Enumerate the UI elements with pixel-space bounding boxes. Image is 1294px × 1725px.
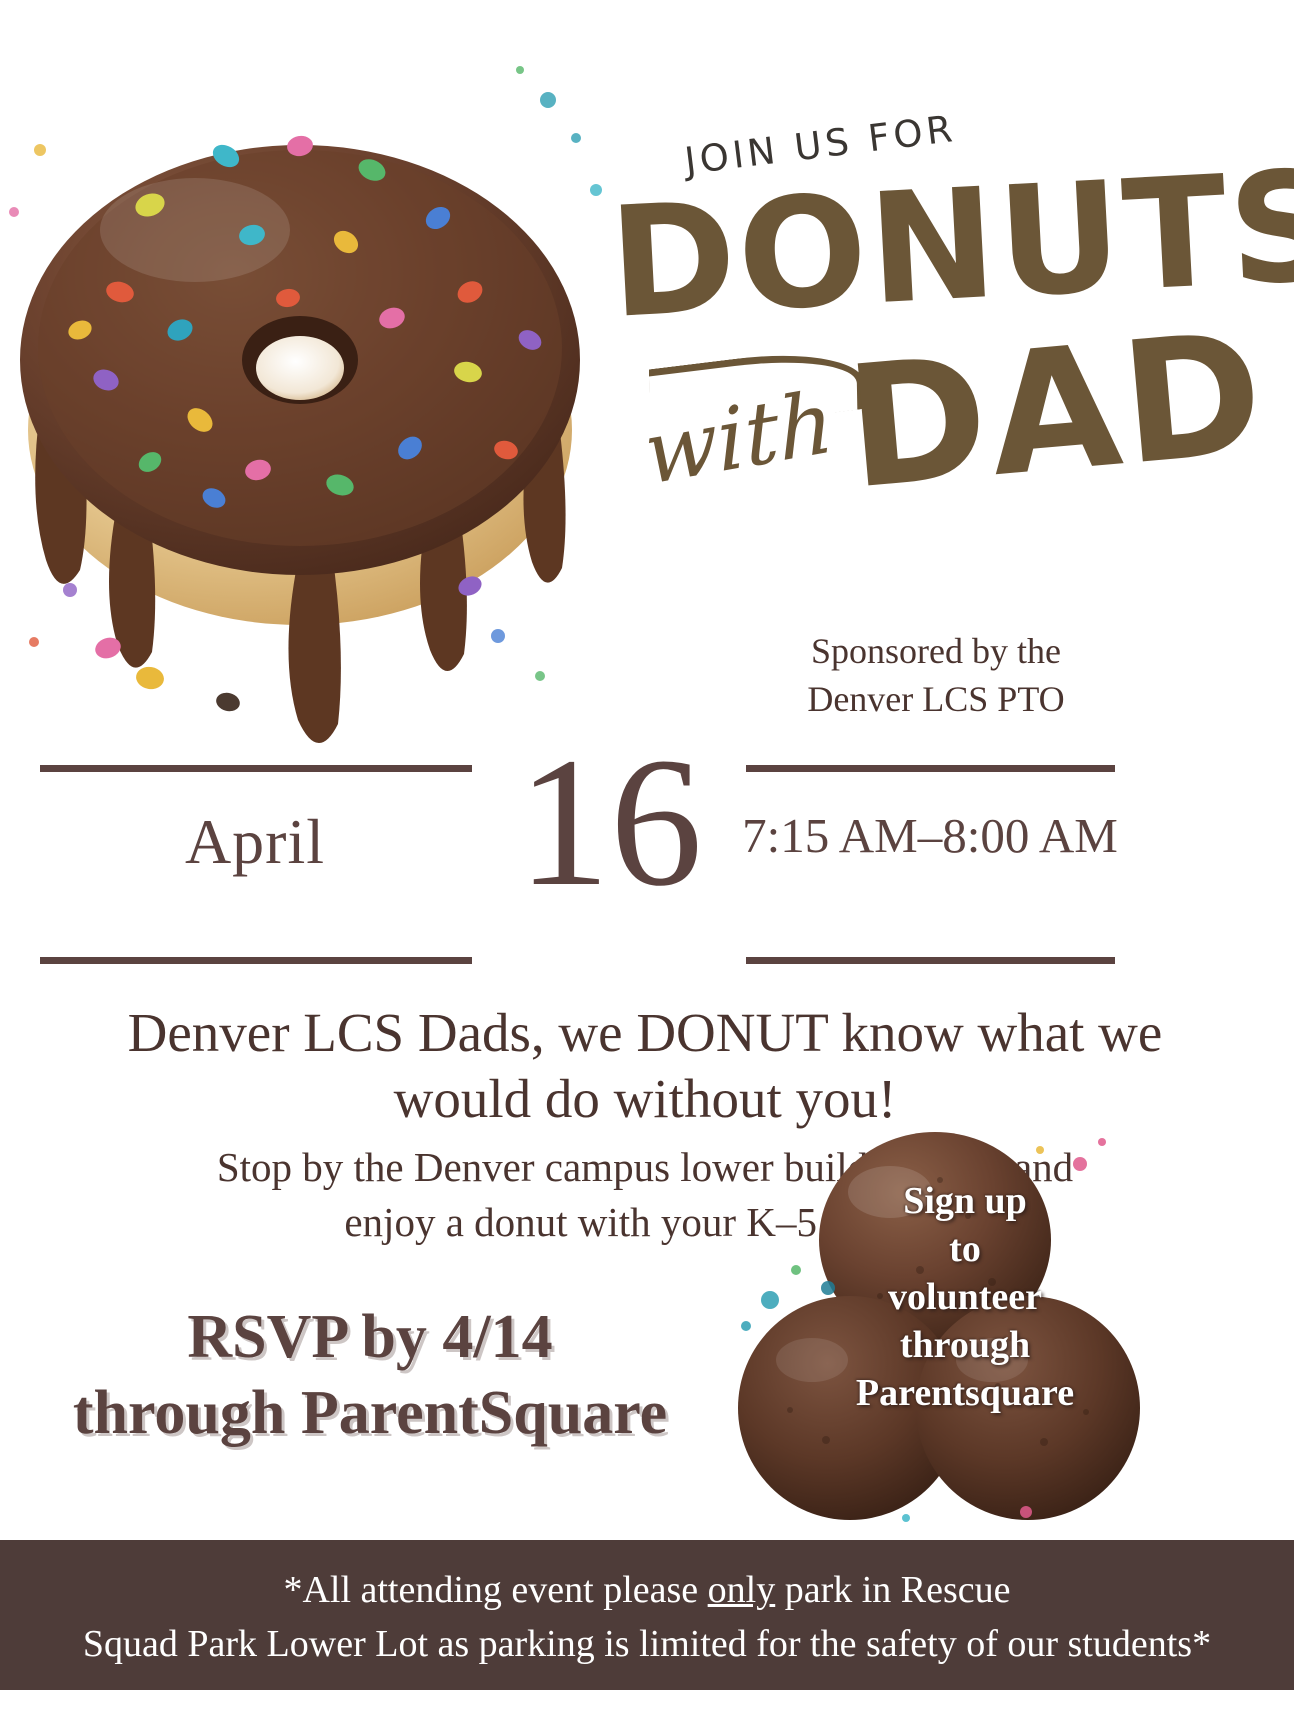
signup-line-1: Sign up — [840, 1178, 1090, 1226]
rsvp-block: RSVP by 4/14 through ParentSquare — [30, 1300, 710, 1451]
tagline-block: Denver LCS Dads, we DONUT know what we w… — [70, 1000, 1220, 1132]
banner-line-1-post: park in Rescue — [775, 1569, 1010, 1611]
sponsor-block: Sponsored by the Denver LCS PTO — [726, 628, 1146, 723]
event-time-range: 7:15 AM–8:00 AM — [740, 807, 1120, 864]
signup-line-4: through — [840, 1322, 1090, 1370]
banner-line-2: Squad Park Lower Lot as parking is limit… — [0, 1618, 1294, 1672]
banner-line-1-pre: *All attending event please — [283, 1569, 707, 1611]
rsvp-line-1: RSVP by 4/14 — [30, 1300, 710, 1376]
headline-group: JOIN US FOR DONUTS with DAD — [600, 140, 1200, 560]
rule-left-bottom — [40, 957, 472, 964]
banner-emphasis-only: only — [708, 1569, 776, 1611]
event-day-number: 16 — [470, 730, 750, 915]
event-month: April — [40, 805, 470, 879]
rule-right-top — [746, 765, 1115, 772]
parking-notice-banner: *All attending event please only park in… — [0, 1540, 1294, 1690]
rule-right-bottom — [746, 957, 1115, 964]
headline-dad: DAD — [841, 309, 1272, 513]
sponsor-line-2: Denver LCS PTO — [726, 676, 1146, 724]
date-strip: April 16 7:15 AM–8:00 AM — [40, 765, 1115, 970]
signup-callout: Sign up to volunteer through Parentsquar… — [840, 1178, 1090, 1417]
signup-line-5: Parentsquare — [840, 1370, 1090, 1418]
tagline-line-1: Denver LCS Dads, we DONUT know what we — [70, 1000, 1220, 1066]
sponsor-line-1: Sponsored by the — [726, 628, 1146, 676]
rule-left-top — [40, 765, 472, 772]
headline-with: with — [641, 372, 836, 505]
rsvp-line-2: through ParentSquare — [30, 1376, 710, 1452]
signup-line-3: volunteer — [840, 1274, 1090, 1322]
donut-illustration — [0, 30, 620, 750]
parking-notice-text: *All attending event please only park in… — [0, 1564, 1294, 1672]
banner-line-1: *All attending event please only park in… — [0, 1564, 1294, 1618]
signup-line-2: to — [840, 1226, 1090, 1274]
